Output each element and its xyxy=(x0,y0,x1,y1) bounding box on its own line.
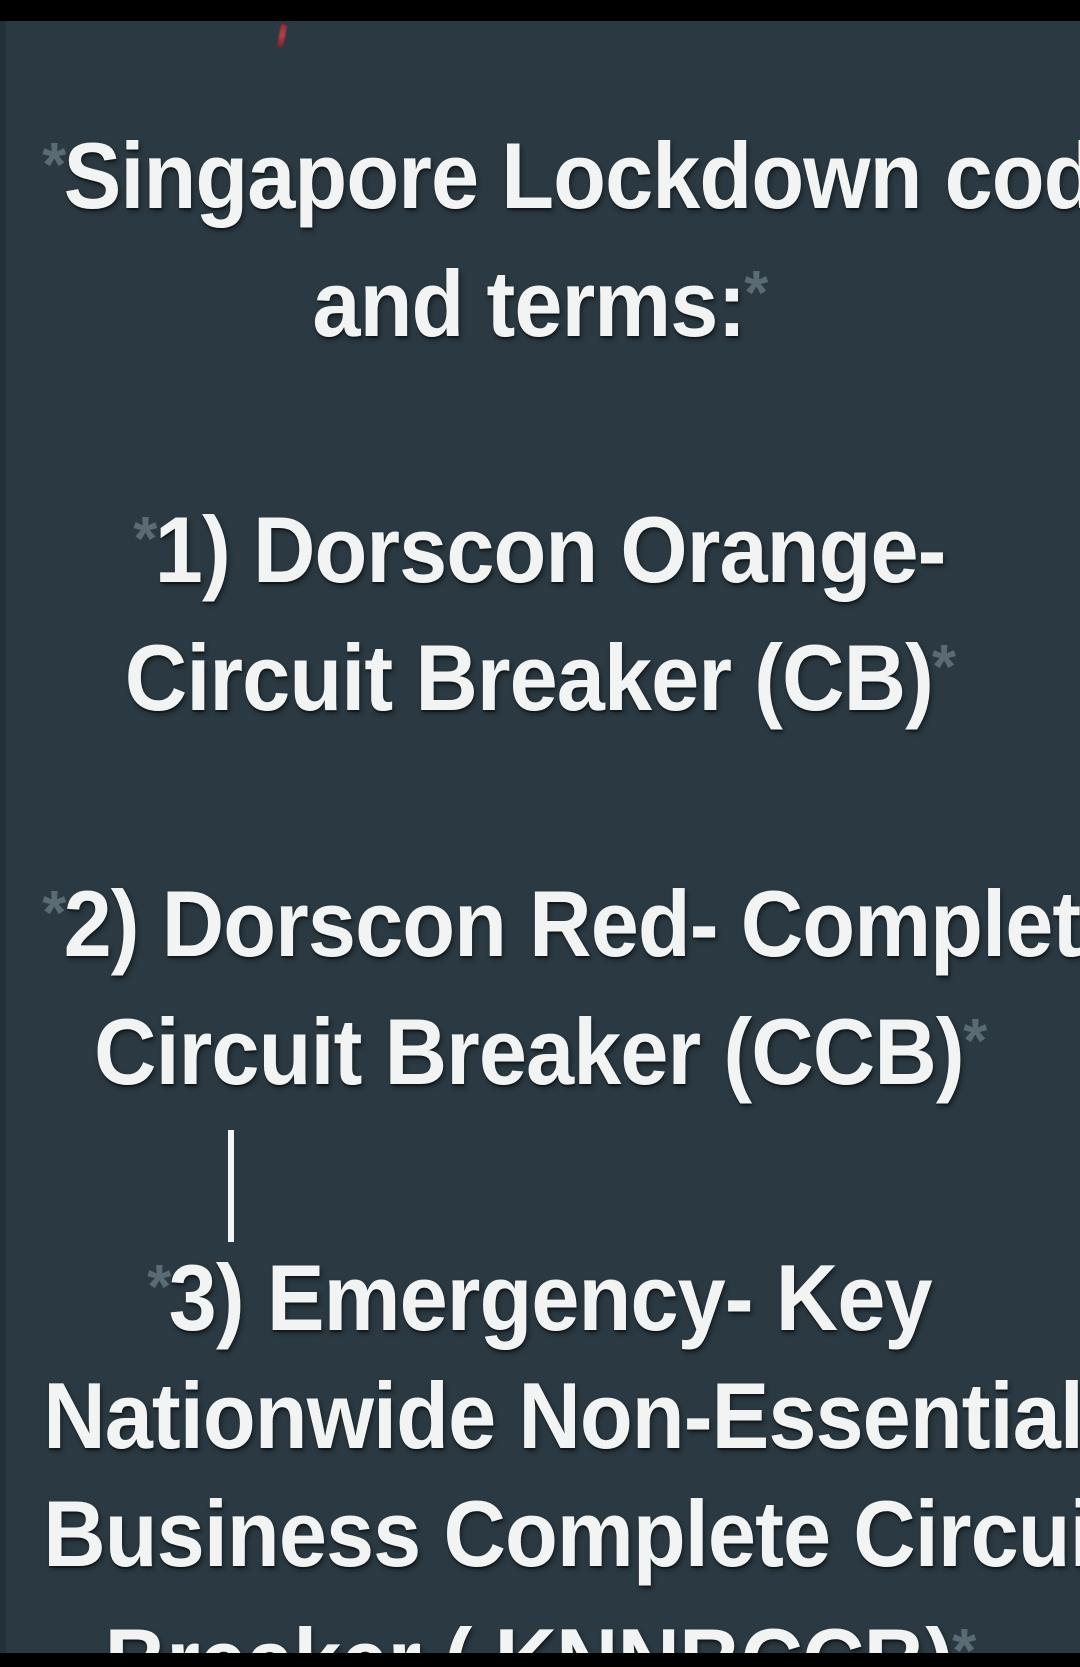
item-3-line-4: Breaker ( KNNBCCB)* xyxy=(43,1593,1037,1653)
item-2-line-2-text: Circuit Breaker (CCB) xyxy=(94,999,964,1104)
asterisk-icon: * xyxy=(147,1229,171,1347)
item-3-line-1-text: 3) Emergency- Key xyxy=(169,1245,932,1350)
title-line-2-text: and terms: xyxy=(312,251,745,356)
asterisk-icon: * xyxy=(134,481,158,599)
item-1-line-1-text: 1) Dorscon Orange- xyxy=(155,497,946,602)
spacer-line xyxy=(43,363,1037,481)
item-3-line-2: Nationwide Non-Essential xyxy=(43,1357,1037,1475)
asterisk-icon: * xyxy=(42,855,66,973)
letterbox-top xyxy=(0,0,1080,21)
asterisk-icon: * xyxy=(952,1593,976,1653)
image-canvas: *Singapore Lockdown code and terms:* *1)… xyxy=(0,21,1080,1653)
item-1-line-2: Circuit Breaker (CB)* xyxy=(43,609,1037,737)
item-1-line-2-text: Circuit Breaker (CB) xyxy=(125,625,933,730)
item-3-line-3-text: Business Complete Circuit xyxy=(43,1481,1080,1586)
spacer-line xyxy=(43,1111,1037,1229)
item-3-line-4-text: Breaker ( KNNBCCB) xyxy=(105,1609,953,1653)
screenshot-root: *Singapore Lockdown code and terms:* *1)… xyxy=(0,0,1080,1667)
item-2-line-2: Circuit Breaker (CCB)* xyxy=(43,983,1037,1111)
title-line-2: and terms:* xyxy=(43,235,1037,363)
text-content-block: *Singapore Lockdown code and terms:* *1)… xyxy=(0,21,1080,1653)
item-2-line-1: *2) Dorscon Red- Complete xyxy=(43,855,1037,983)
text-caret xyxy=(228,1130,234,1242)
item-2-line-1-text: 2) Dorscon Red- Complete xyxy=(64,871,1080,976)
asterisk-icon: * xyxy=(744,235,768,353)
item-3-line-2-text: Nationwide Non-Essential xyxy=(43,1363,1080,1468)
asterisk-icon: * xyxy=(963,983,987,1101)
item-1-line-1: *1) Dorscon Orange- xyxy=(43,481,1037,609)
title-line-1-text: Singapore Lockdown code xyxy=(64,123,1080,228)
letterbox-bottom xyxy=(0,1653,1080,1667)
asterisk-icon: * xyxy=(42,107,66,225)
title-line-1: *Singapore Lockdown code xyxy=(43,107,1037,235)
spacer-line xyxy=(43,737,1037,855)
item-3-line-3: Business Complete Circuit xyxy=(43,1475,1037,1593)
asterisk-icon: * xyxy=(932,609,956,727)
item-3-line-1: *3) Emergency- Key xyxy=(43,1229,1037,1357)
